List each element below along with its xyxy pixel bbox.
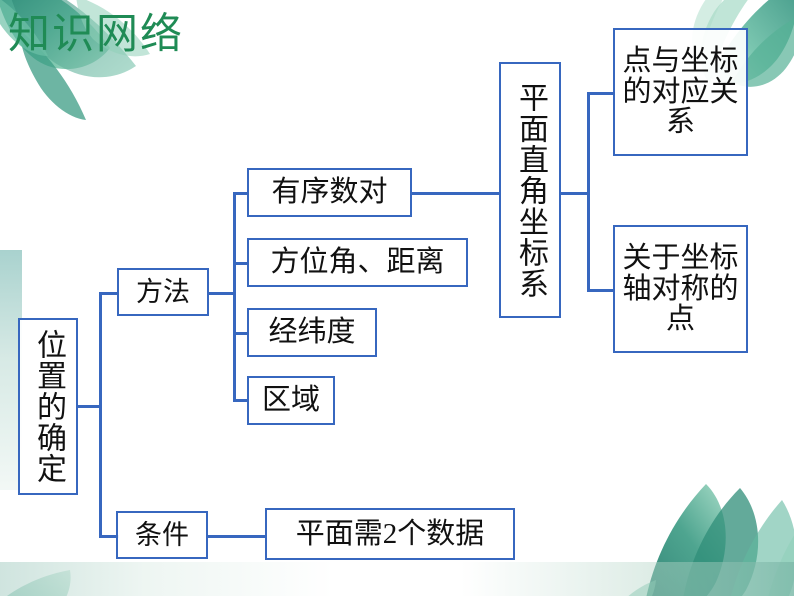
connector-pair-to-coordinate-system [412, 192, 501, 195]
slide-canvas: 知识网络 位置的确定 方法 条件 有序数对 方位角、距离 经纬度 区域 平面 [0, 0, 794, 596]
connector-coordinate-spine [587, 92, 590, 292]
connector-coordinate-to-topic-1 [587, 92, 614, 95]
node-rectangular-coordinate-system[interactable]: 平面直角坐标系 [499, 62, 561, 318]
node-root-position-determination[interactable]: 位置的确定 [18, 318, 78, 495]
node-topic-point-coordinate-correspondence[interactable]: 点与坐标的对应关系 [613, 28, 748, 156]
node-condition[interactable]: 条件 [116, 511, 208, 559]
node-topic-axis-symmetric-points[interactable]: 关于坐标轴对称的点 [613, 225, 748, 353]
node-method-bearing-distance[interactable]: 方位角、距离 [247, 238, 468, 287]
connector-root-spine [99, 292, 102, 538]
connector-root-to-method [99, 292, 119, 295]
node-method-longitude-latitude[interactable]: 经纬度 [247, 308, 377, 357]
knowledge-network-diagram: 位置的确定 方法 条件 有序数对 方位角、距离 经纬度 区域 平面直角坐标系 点… [0, 0, 794, 596]
node-method[interactable]: 方法 [117, 268, 209, 316]
node-condition-plane-two-data[interactable]: 平面需2个数据 [265, 508, 515, 560]
connector-condition-to-detail [208, 535, 266, 538]
node-method-region[interactable]: 区域 [247, 376, 335, 425]
connector-method-stem [209, 292, 236, 295]
connector-coordinate-to-topic-2 [587, 289, 614, 292]
connector-coordinate-stem [561, 192, 590, 195]
page-title: 知识网络 [8, 14, 184, 56]
node-method-ordered-pair[interactable]: 有序数对 [247, 168, 412, 217]
connector-method-spine [233, 192, 236, 402]
